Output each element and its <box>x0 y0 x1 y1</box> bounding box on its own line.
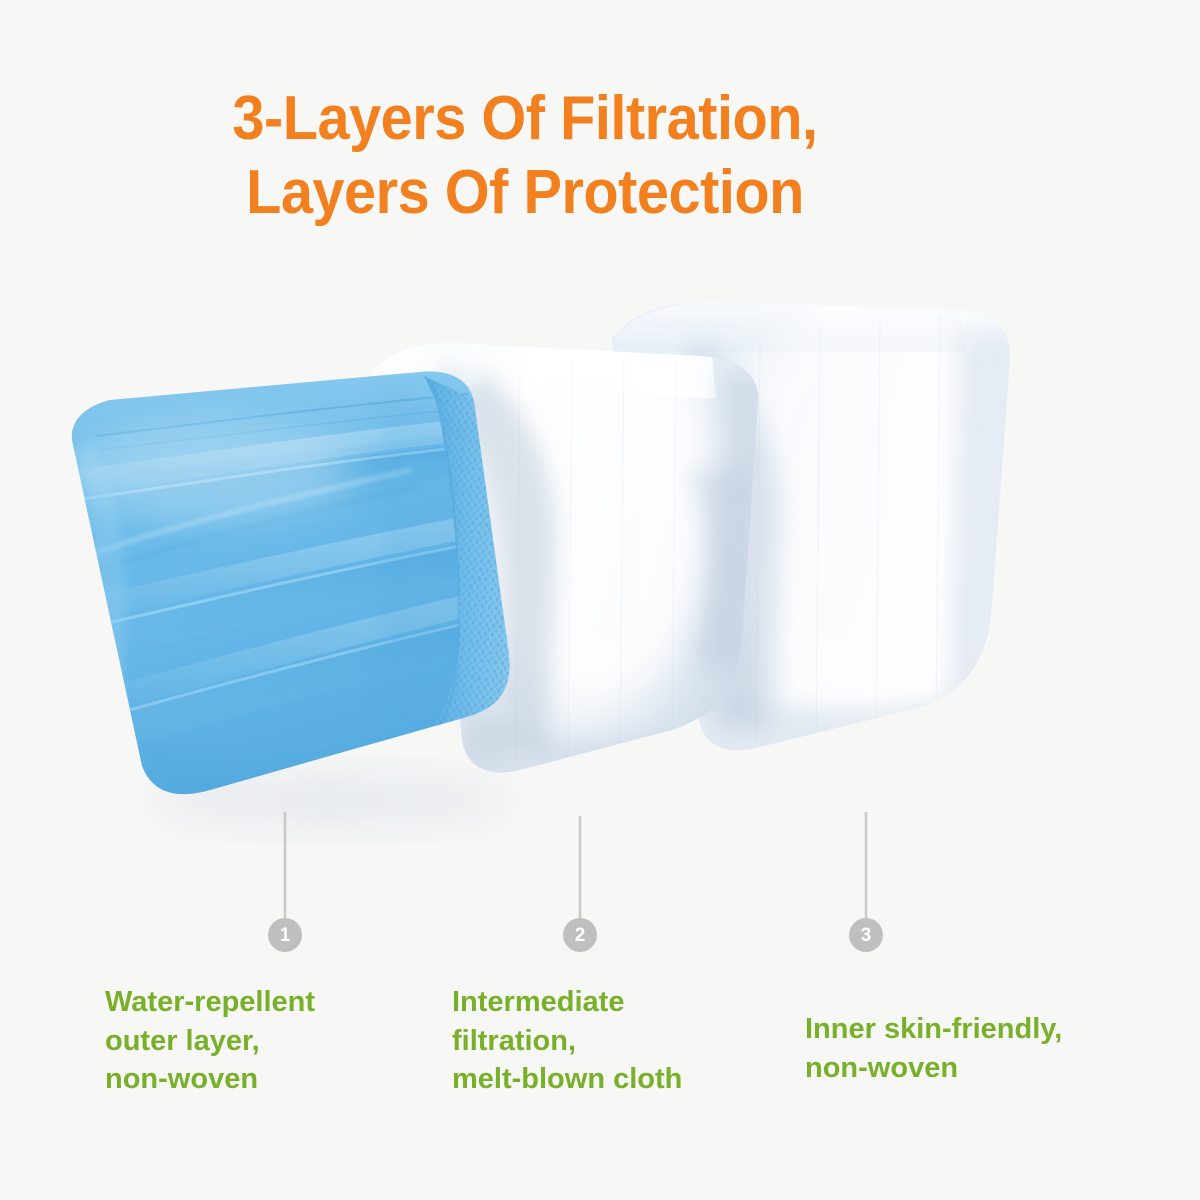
layer-caption-3-line-1: Inner skin-friendly, <box>805 1010 1062 1049</box>
layer-marker-3-number: 3 <box>861 926 872 945</box>
layer-marker-1-number: 1 <box>280 926 291 945</box>
layer-3-inner-nonwoven <box>600 270 1030 770</box>
layer-2-meltblown <box>360 290 772 790</box>
layer-1-outer-blue <box>60 360 530 810</box>
leader-lines <box>285 812 866 922</box>
layer-caption-2-line-3: melt-blown cloth <box>452 1060 682 1099</box>
layer-caption-2: Intermediate filtration, melt-blown clot… <box>452 983 682 1099</box>
layer-marker-2-number: 2 <box>575 926 586 945</box>
layer-caption-2-line-2: filtration, <box>452 1022 682 1061</box>
layer-marker-3: 3 <box>849 918 883 952</box>
layer-marker-1: 1 <box>268 918 302 952</box>
layer-caption-3: Inner skin-friendly, non-woven <box>805 1010 1062 1087</box>
layer-caption-1-line-3: non-woven <box>105 1060 315 1099</box>
title-line-1: 3-Layers Of Filtration, <box>37 88 1014 150</box>
layer-caption-1-line-2: outer layer, <box>105 1022 315 1061</box>
layer-caption-2-line-1: Intermediate <box>452 983 682 1022</box>
title-line-2: Layers Of Protection <box>37 162 1014 224</box>
layer-caption-1-line-1: Water-repellent <box>105 983 315 1022</box>
layer-caption-3-line-2: non-woven <box>805 1049 1062 1088</box>
infographic-page: 3-Layers Of Filtration, Layers Of Protec… <box>0 0 1200 1200</box>
page-title: 3-Layers Of Filtration, Layers Of Protec… <box>0 88 1050 224</box>
layer-marker-2: 2 <box>563 918 597 952</box>
layer-caption-1: Water-repellent outer layer, non-woven <box>105 983 315 1099</box>
